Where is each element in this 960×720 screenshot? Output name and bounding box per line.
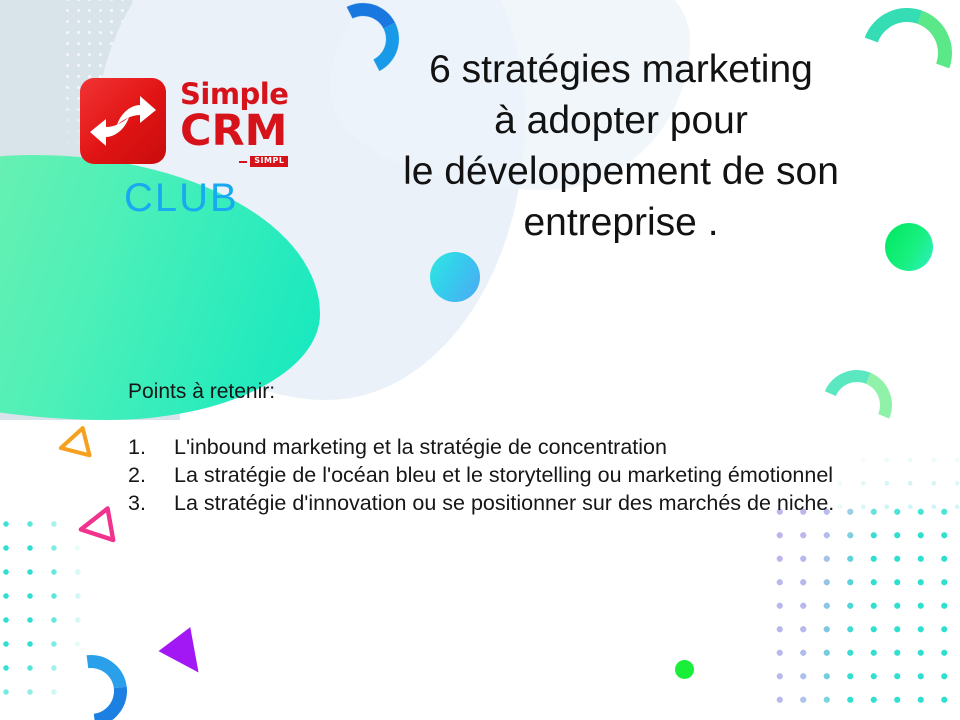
brand-wordmark: Simple CRM SIMPL bbox=[180, 80, 288, 167]
list-item-text: La stratégie de l'océan bleu et le story… bbox=[174, 462, 928, 490]
list-item-number: 3. bbox=[128, 490, 174, 518]
list-item-number: 2. bbox=[128, 462, 174, 490]
points-list: 1. L'inbound marketing et la stratégie d… bbox=[128, 434, 928, 518]
points-list-container: 1. L'inbound marketing et la stratégie d… bbox=[128, 434, 928, 518]
points-kicker: Points à retenir: bbox=[128, 380, 275, 404]
headline-line-4: entreprise . bbox=[330, 197, 912, 248]
list-item: 3. La stratégie d'innovation ou se posit… bbox=[128, 490, 928, 518]
list-item-text: La stratégie d'innovation ou se position… bbox=[174, 490, 928, 518]
club-label: CLUB bbox=[124, 178, 239, 218]
brand-name-simple: Simple bbox=[180, 80, 288, 109]
list-item: 2. La stratégie de l'océan bleu et le st… bbox=[128, 462, 928, 490]
slide-canvas: Simple CRM SIMPL CLUB 6 stratégies marke… bbox=[0, 0, 960, 720]
headline-line-1: 6 stratégies marketing bbox=[330, 44, 912, 95]
brand-name-crm: CRM bbox=[180, 110, 288, 153]
list-item-number: 1. bbox=[128, 434, 174, 462]
slide-content: Simple CRM SIMPL CLUB 6 stratégies marke… bbox=[0, 0, 960, 720]
headline-line-3: le développement de son bbox=[330, 146, 912, 197]
brand-lockup: Simple CRM SIMPL bbox=[80, 78, 288, 167]
list-item-text: L'inbound marketing et la stratégie de c… bbox=[174, 434, 928, 462]
list-item: 1. L'inbound marketing et la stratégie d… bbox=[128, 434, 928, 462]
brand-simpl-badge-row: SIMPL bbox=[180, 156, 288, 167]
page-title: 6 stratégies marketing à adopter pour le… bbox=[330, 44, 912, 248]
simple-crm-logo-icon bbox=[80, 78, 166, 164]
brand-simpl-badge: SIMPL bbox=[250, 156, 288, 167]
headline-line-2: à adopter pour bbox=[330, 95, 912, 146]
brand-dash-icon bbox=[239, 161, 247, 163]
